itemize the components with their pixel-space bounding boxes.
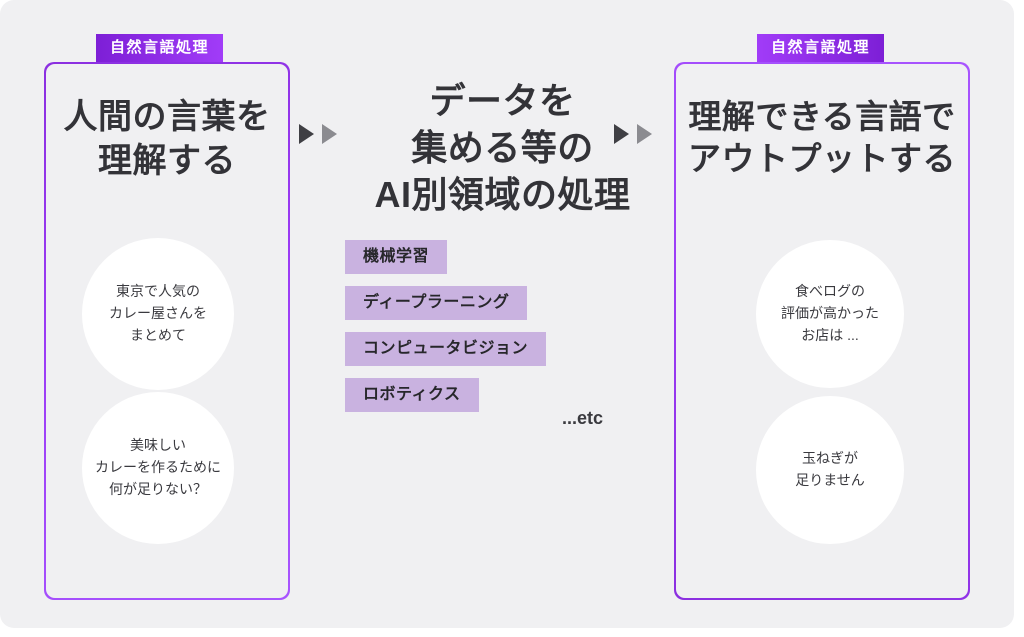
center-heading: データを 集める等の AI別領域の処理 — [305, 78, 700, 218]
bubble-text: 東京で人気の カレー屋さんを まとめて — [109, 281, 207, 346]
center-tag-list: 機械学習 ディープラーニング コンピュータビジョン ロボティクス — [345, 240, 546, 424]
diagram-canvas: 自然言語処理 人間の言葉を 理解する 東京で人気の カレー屋さんを まとめて 美… — [0, 0, 1024, 637]
etc-label: ...etc — [562, 408, 603, 429]
bubble-text: 玉ねぎが 足りません — [795, 448, 865, 491]
right-panel-badge: 自然言語処理 — [757, 34, 884, 62]
bubble-text: 食べログの 評価が高かった お店は ... — [781, 281, 879, 346]
arrow-group-right — [614, 124, 652, 144]
left-panel-inner: 人間の言葉を 理解する 東京で人気の カレー屋さんを まとめて 美味しい カレー… — [46, 64, 288, 598]
left-panel-heading: 人間の言葉を 理解する — [46, 96, 288, 183]
right-panel-inner: 理解できる言語で アウトプットする 食べログの 評価が高かった お店は ... … — [676, 64, 968, 598]
left-panel-badge: 自然言語処理 — [96, 34, 223, 62]
bubble-text: 美味しい カレーを作るために 何が足りない？ — [95, 435, 221, 500]
triangle-right-icon — [614, 124, 629, 144]
left-panel-bubble-1: 東京で人気の カレー屋さんを まとめて — [82, 238, 234, 390]
left-panel-bubble-2: 美味しい カレーを作るために 何が足りない？ — [82, 392, 234, 544]
tag-item: コンピュータビジョン — [345, 332, 546, 366]
right-panel-heading: 理解できる言語で アウトプットする — [676, 96, 968, 180]
tag-item: ディープラーニング — [345, 286, 527, 320]
triangle-right-icon — [637, 124, 652, 144]
tag-item: ロボティクス — [345, 378, 479, 412]
right-panel-bubble-1: 食べログの 評価が高かった お店は ... — [756, 240, 904, 388]
right-panel: 理解できる言語で アウトプットする 食べログの 評価が高かった お店は ... … — [674, 62, 970, 600]
tag-item: 機械学習 — [345, 240, 447, 274]
left-panel: 人間の言葉を 理解する 東京で人気の カレー屋さんを まとめて 美味しい カレー… — [44, 62, 290, 600]
right-panel-bubble-2: 玉ねぎが 足りません — [756, 396, 904, 544]
